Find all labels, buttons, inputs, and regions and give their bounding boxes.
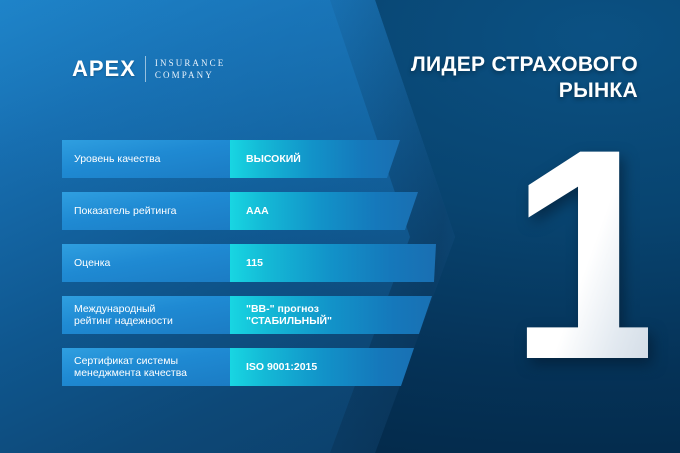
table-row-label: Оценка: [62, 244, 230, 282]
table-row-bar: Показатель рейтинга ААА: [62, 192, 418, 230]
brand-name: APEX: [72, 58, 136, 80]
table-row-value: "BB-" прогноз "СТАБИЛЬНЫЙ": [230, 296, 440, 334]
table-row-bar: Сертификат системы менеджмента качества …: [62, 348, 422, 386]
table-row-label: Уровень качества: [62, 140, 230, 178]
table-row-value: ВЫСОКИЙ: [230, 140, 400, 178]
table-row-value: ААА: [230, 192, 418, 230]
table-row-value: 115: [230, 244, 436, 282]
table-row-value-text: "BB-" прогноз "СТАБИЛЬНЫЙ": [246, 303, 332, 328]
logo-divider: [145, 56, 146, 82]
brand-tagline-line2: COMPANY: [155, 69, 225, 81]
table-row-label-text: Международный рейтинг надежности: [74, 303, 173, 328]
table-row-label: Международный рейтинг надежности: [62, 296, 230, 334]
table-row-bar: Международный рейтинг надежности "BB-" п…: [62, 296, 440, 334]
table-row-value-text: ISO 9001:2015: [246, 361, 317, 374]
table-row-bar: Уровень качества ВЫСОКИЙ: [62, 140, 400, 178]
promo-banner: APEX INSURANCE COMPANY ЛИДЕР СТРАХОВОГО …: [0, 0, 680, 453]
table-row-label: Показатель рейтинга: [62, 192, 230, 230]
table-row: Показатель рейтинга ААА: [62, 192, 462, 230]
table-row: Международный рейтинг надежности "BB-" п…: [62, 296, 462, 334]
table-row-label-text: Уровень качества: [74, 153, 160, 166]
table-row: Уровень качества ВЫСОКИЙ: [62, 140, 462, 178]
brand-tagline-line1: INSURANCE: [155, 57, 225, 69]
table-row-label-text: Показатель рейтинга: [74, 205, 177, 218]
metrics-table: Уровень качества ВЫСОКИЙ Показатель рейт…: [62, 140, 462, 386]
table-row-value-text: 115: [246, 257, 263, 270]
brand-logo: APEX INSURANCE COMPANY: [72, 56, 225, 82]
rank-number: 1: [508, 104, 648, 404]
table-row-value-text: ВЫСОКИЙ: [246, 153, 301, 166]
table-row-label-text: Сертификат системы менеджмента качества: [74, 355, 187, 380]
table-row: Сертификат системы менеджмента качества …: [62, 348, 462, 386]
table-row: Оценка 115: [62, 244, 462, 282]
brand-tagline: INSURANCE COMPANY: [155, 57, 225, 81]
table-row-value: ISO 9001:2015: [230, 348, 422, 386]
table-row-bar: Оценка 115: [62, 244, 436, 282]
table-row-label: Сертификат системы менеджмента качества: [62, 348, 230, 386]
table-row-label-text: Оценка: [74, 257, 110, 270]
table-row-value-text: ААА: [246, 205, 269, 218]
